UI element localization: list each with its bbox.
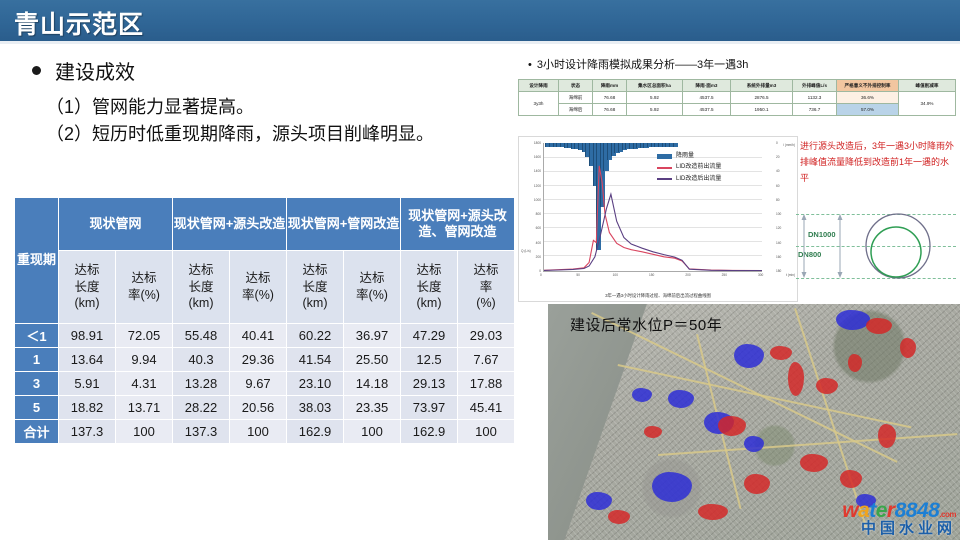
table-header-row-1: 重现期 现状管网 现状管网+源头改造 现状管网+管网改造 现状管网+源头改造、管… xyxy=(15,198,515,251)
cell: 60.22 xyxy=(287,324,344,348)
cell: 100 xyxy=(116,420,173,444)
st-state: 海绵后 xyxy=(559,104,593,116)
y-tick: 0 xyxy=(521,269,541,273)
cell: 100 xyxy=(344,420,401,444)
red-annotation: 进行源头改造后，3年一遇3小时降雨外排峰值流量降低到改造前1年一遇的水平 xyxy=(800,139,955,186)
legend-item-after: LID改造后出流量 xyxy=(657,174,721,185)
bullet-square-icon: • xyxy=(528,59,532,71)
cell: 17.88 xyxy=(458,372,515,396)
y2-tick: 80 xyxy=(776,198,796,202)
outflow-curves xyxy=(544,143,762,271)
st-area: 5.92 xyxy=(627,92,683,104)
watermark-tld: .com xyxy=(939,510,956,519)
right-panel-heading-label: 3小时设计降雨模拟成果分析——3年一遇3h xyxy=(537,59,748,71)
st-volume: 4537.5 xyxy=(683,104,731,116)
compliance-table: 重现期 现状管网 现状管网+源头改造 现状管网+管网改造 现状管网+源头改造、管… xyxy=(14,197,515,444)
table-row: 1 13.64 9.94 40.3 29.36 41.54 25.50 12.5… xyxy=(15,348,515,372)
cell: 47.29 xyxy=(401,324,458,348)
small-table-row: 3y3h 海绵前 76.68 5.92 4537.5 2876.5 1132.3… xyxy=(519,92,956,104)
cell: 29.03 xyxy=(458,324,515,348)
bullet-heading-label: 建设成效 xyxy=(55,56,135,85)
page-title: 青山示范区 xyxy=(14,5,144,41)
legend-label-after: LID改造后出流量 xyxy=(676,174,721,185)
slide-root: 青山示范区 建设成效 （1）管网能力显著提高。 （2）短历时低重现期降雨，源头项… xyxy=(0,0,960,540)
curve-after xyxy=(544,194,762,270)
cell: 162.9 xyxy=(401,420,458,444)
x-tick: 0 xyxy=(540,273,542,277)
cell: 29.36 xyxy=(230,348,287,372)
x-tick: 250 xyxy=(722,273,727,277)
table-row: 3 5.91 4.31 13.28 9.67 23.10 14.18 29.13… xyxy=(15,372,515,396)
cell: 7.67 xyxy=(458,348,515,372)
sub-line-1: （1）管网能力显著提高。 xyxy=(46,93,254,119)
st-state: 海绵前 xyxy=(559,92,593,104)
small-table-header-row: 设计降雨 状态 降雨mm 集水区总面积ha 降雨·面m3 系统外排量m3 外排峰… xyxy=(519,80,956,92)
y-tick: 800 xyxy=(521,212,541,216)
cell: 40.3 xyxy=(173,348,230,372)
watermark-cn: 中国水业网 xyxy=(842,521,956,536)
chart-caption: 3年一遇3小时设计降雨过程、海绵前后出流过程曲线图 xyxy=(519,293,797,299)
y2-tick: 40 xyxy=(776,169,796,173)
table-header-row-2: 达标 长度 (km) 达标 率(%) 达标 长度 (km) 达标 率(%) xyxy=(15,251,515,324)
chart-legend: 降雨量 LID改造前出流量 LID改造后出流量 xyxy=(657,151,721,185)
y2-tick: 100 xyxy=(776,212,796,216)
cell: 45.41 xyxy=(458,396,515,420)
table-total-row: 合计 137.3 100 137.3 100 162.9 100 162.9 1… xyxy=(15,420,515,444)
st-header-2: 降雨mm xyxy=(593,80,627,92)
pipe-section-icon xyxy=(796,210,958,296)
cell: 36.97 xyxy=(344,324,401,348)
watermark-brand: water8848.com xyxy=(842,500,956,521)
cell: 13.71 xyxy=(116,396,173,420)
wm-letter-w: w xyxy=(842,499,858,522)
cell: 9.67 xyxy=(230,372,287,396)
x-tick: 100 xyxy=(613,273,618,277)
chart-y2label: i (mm/h) xyxy=(783,143,795,147)
watermark: water8848.com 中国水业网 xyxy=(842,500,956,536)
cell: 13.64 xyxy=(59,348,116,372)
row-label: 5 xyxy=(15,396,59,420)
y2-tick: 60 xyxy=(776,184,796,188)
sub-header-7: 达标 率 (%) xyxy=(458,251,515,324)
cell: 100 xyxy=(458,420,515,444)
curve-before xyxy=(544,166,762,271)
row-label: ＜1 xyxy=(15,324,59,348)
st-header-4: 降雨·面m3 xyxy=(683,80,731,92)
cell: 40.41 xyxy=(230,324,287,348)
cell: 162.9 xyxy=(287,420,344,444)
cell: 23.10 xyxy=(287,372,344,396)
st-peak: 1132.3 xyxy=(793,92,837,104)
row-label: 1 xyxy=(15,348,59,372)
legend-item-rainfall: 降雨量 xyxy=(657,151,721,162)
st-header-7: 严格意义不外排控制率 xyxy=(837,80,899,92)
table-row: ＜1 98.91 72.05 55.48 40.41 60.22 36.97 4… xyxy=(15,324,515,348)
st-peak-reduction: 34.9% xyxy=(899,92,956,116)
y-tick: 1800 xyxy=(521,141,541,145)
legend-label-rainfall: 降雨量 xyxy=(676,151,694,162)
st-header-3: 集水区总面积ha xyxy=(627,80,683,92)
cell: 137.3 xyxy=(173,420,230,444)
st-area: 5.92 xyxy=(627,104,683,116)
chart-ylabel: Q (L/s) xyxy=(521,249,531,253)
cell: 14.18 xyxy=(344,372,401,396)
legend-item-before: LID改造前出流量 xyxy=(657,162,721,173)
wm-letter-a: a xyxy=(858,499,869,522)
group-header-2: 现状管网+管网改造 xyxy=(287,198,401,251)
cell: 73.97 xyxy=(401,396,458,420)
legend-swatch-before xyxy=(657,167,672,169)
y-tick: 400 xyxy=(521,241,541,245)
cell: 9.94 xyxy=(116,348,173,372)
st-rate: 57.0% xyxy=(837,104,899,116)
y2-tick: 140 xyxy=(776,241,796,245)
satellite-map-label: 建设后常水位P＝50年 xyxy=(570,314,722,335)
y-tick: 1000 xyxy=(521,198,541,202)
y-tick: 1400 xyxy=(521,169,541,173)
sub-header-3: 达标 率(%) xyxy=(230,251,287,324)
x-tick: 200 xyxy=(685,273,690,277)
group-header-3: 现状管网+源头改造、管网改造 xyxy=(401,198,515,251)
sub-header-6: 达标 长度 (km) xyxy=(401,251,458,324)
right-panel-heading: •3小时设计降雨模拟成果分析——3年一遇3h xyxy=(528,56,748,72)
cell: 98.91 xyxy=(59,324,116,348)
cell: 29.13 xyxy=(401,372,458,396)
legend-label-before: LID改造前出流量 xyxy=(676,162,721,173)
table-row: 5 18.82 13.71 28.22 20.56 38.03 23.35 73… xyxy=(15,396,515,420)
y-tick: 200 xyxy=(521,255,541,259)
cell: 23.35 xyxy=(344,396,401,420)
y-tick: 600 xyxy=(521,226,541,230)
bullet-heading: 建设成效 xyxy=(32,56,135,85)
cell: 28.22 xyxy=(173,396,230,420)
sub-header-5: 达标 率(%) xyxy=(344,251,401,324)
cell: 20.56 xyxy=(230,396,287,420)
st-header-8: 峰值削减率 xyxy=(899,80,956,92)
row-label: 3 xyxy=(15,372,59,396)
sub-header-0: 达标 长度 (km) xyxy=(59,251,116,324)
chart-xlabel: t (min) xyxy=(786,273,795,277)
x-tick: 300 xyxy=(758,273,763,277)
st-design-rain: 3y3h xyxy=(519,92,559,116)
watermark-number: 8848 xyxy=(895,499,940,522)
y-tick: 1200 xyxy=(521,184,541,188)
cell: 137.3 xyxy=(59,420,116,444)
st-rate: 36.6% xyxy=(837,92,899,104)
legend-swatch-after xyxy=(657,178,672,180)
cell: 72.05 xyxy=(116,324,173,348)
st-header-6: 外排峰值L/s xyxy=(793,80,837,92)
x-tick: 150 xyxy=(649,273,654,277)
rainfall-outflow-chart: 020040060080010001200140016001800 020406… xyxy=(518,136,798,302)
title-underline xyxy=(0,41,960,44)
sub-line-2: （2）短历时低重现期降雨，源头项目削峰明显。 xyxy=(46,120,434,146)
rain-simulation-table: 设计降雨 状态 降雨mm 集水区总面积ha 降雨·面m3 系统外排量m3 外排峰… xyxy=(518,79,956,116)
group-header-1: 现状管网+源头改造 xyxy=(173,198,287,251)
y-tick: 1600 xyxy=(521,155,541,159)
sub-header-1: 达标 率(%) xyxy=(116,251,173,324)
cell: 25.50 xyxy=(344,348,401,372)
bullet-dot-icon xyxy=(32,66,41,75)
st-outflow: 2876.5 xyxy=(731,92,793,104)
st-rain: 76.68 xyxy=(593,92,627,104)
row-label: 合计 xyxy=(15,420,59,444)
pipe-diagram: DN1000 DN800 xyxy=(796,210,958,296)
cell: 13.28 xyxy=(173,372,230,396)
cell: 41.54 xyxy=(287,348,344,372)
cell: 18.82 xyxy=(59,396,116,420)
group-header-0: 现状管网 xyxy=(59,198,173,251)
row-header-label: 重现期 xyxy=(15,198,59,324)
small-table-row: 海绵后 76.68 5.92 4537.5 1950.1 736.7 57.0% xyxy=(519,104,956,116)
sub-header-4: 达标 长度 (km) xyxy=(287,251,344,324)
wm-letter-e: e xyxy=(876,499,887,522)
cell: 100 xyxy=(230,420,287,444)
cell: 5.91 xyxy=(59,372,116,396)
sub-header-2: 达标 长度 (km) xyxy=(173,251,230,324)
x-tick: 50 xyxy=(576,273,580,277)
y2-tick: 120 xyxy=(776,226,796,230)
y2-tick: 160 xyxy=(776,255,796,259)
st-rain: 76.68 xyxy=(593,104,627,116)
legend-swatch-rainfall xyxy=(657,154,672,159)
cell: 12.5 xyxy=(401,348,458,372)
chart-plot-area xyxy=(543,143,762,272)
wm-letter-r: r xyxy=(887,499,895,522)
y2-tick: 20 xyxy=(776,155,796,159)
cell: 55.48 xyxy=(173,324,230,348)
slide-title-bar: 青山示范区 xyxy=(0,0,960,41)
cell: 4.31 xyxy=(116,372,173,396)
st-header-5: 系统外排量m3 xyxy=(731,80,793,92)
cell: 38.03 xyxy=(287,396,344,420)
st-header-0: 设计降雨 xyxy=(519,80,559,92)
st-volume: 4537.5 xyxy=(683,92,731,104)
st-peak: 736.7 xyxy=(793,104,837,116)
satellite-flood-map: 建设后常水位P＝50年 water8848.com 中国水业网 xyxy=(548,304,960,540)
st-header-1: 状态 xyxy=(559,80,593,92)
st-outflow: 1950.1 xyxy=(731,104,793,116)
